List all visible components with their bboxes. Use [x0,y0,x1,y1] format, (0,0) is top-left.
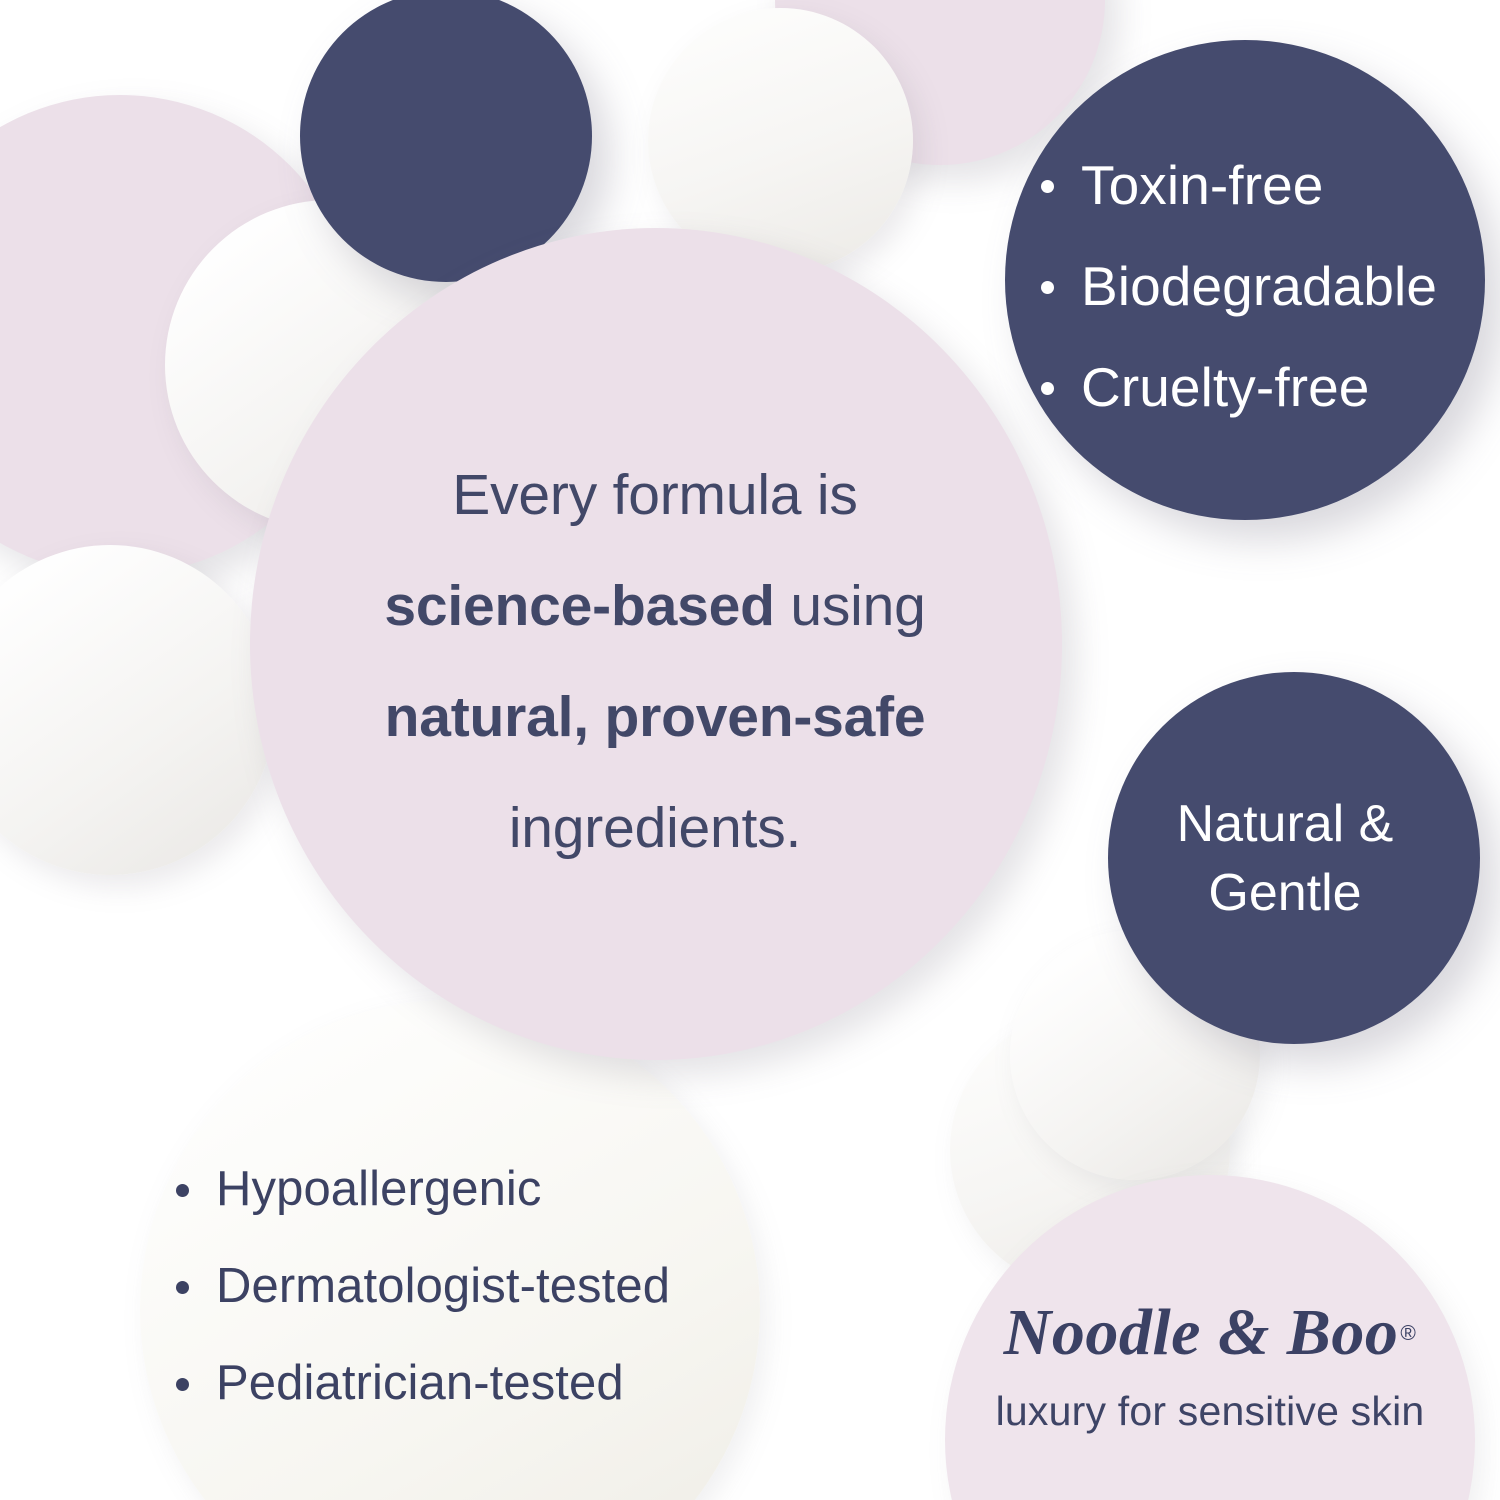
brand-wordmark: Noodle & Boo® [975,1300,1445,1366]
statement-line-2: science-based using [350,551,960,662]
testing-item: Hypoallergenic [170,1165,810,1214]
brand-statement: Every formula is science-based using nat… [350,440,960,885]
testing-bullet-list: Hypoallergenic Dermatologist-tested Pedi… [170,1165,810,1408]
natural-gentle-line-1: Natural & [1140,790,1430,859]
statement-line-4: ingredients. [350,773,960,884]
testing-item: Dermatologist-tested [170,1262,810,1311]
natural-gentle-line-2: Gentle [1140,859,1430,928]
statement-text-plain: Every formula is [452,463,857,527]
benefit-item: Cruelty-free [1035,360,1455,415]
statement-text-emphasis: natural, proven-safe [385,685,926,749]
decorative-circle-white-mid-left [0,545,275,875]
brand-wordmark-text: Noodle & Boo [1004,1296,1399,1369]
brand-benefits-graphic: Toxin-free Biodegradable Cruelty-free Ev… [0,0,1500,1500]
natural-gentle-label: Natural & Gentle [1140,790,1430,927]
statement-line-3: natural, proven-safe [350,662,960,773]
benefit-item: Toxin-free [1035,158,1455,213]
testing-item: Pediatrician-tested [170,1359,810,1408]
brand-tagline: luxury for sensitive skin [975,1388,1445,1435]
statement-text-plain: using [775,574,926,638]
statement-text-emphasis: science-based [384,574,774,638]
statement-line-1: Every formula is [350,440,960,551]
registered-trademark-icon: ® [1400,1322,1416,1345]
benefits-bullet-list: Toxin-free Biodegradable Cruelty-free [1035,158,1455,415]
brand-lockup: Noodle & Boo® luxury for sensitive skin [975,1300,1445,1435]
statement-text-plain: ingredients. [509,796,801,860]
decorative-circle-navy-top-left [300,0,592,282]
benefit-item: Biodegradable [1035,259,1455,314]
